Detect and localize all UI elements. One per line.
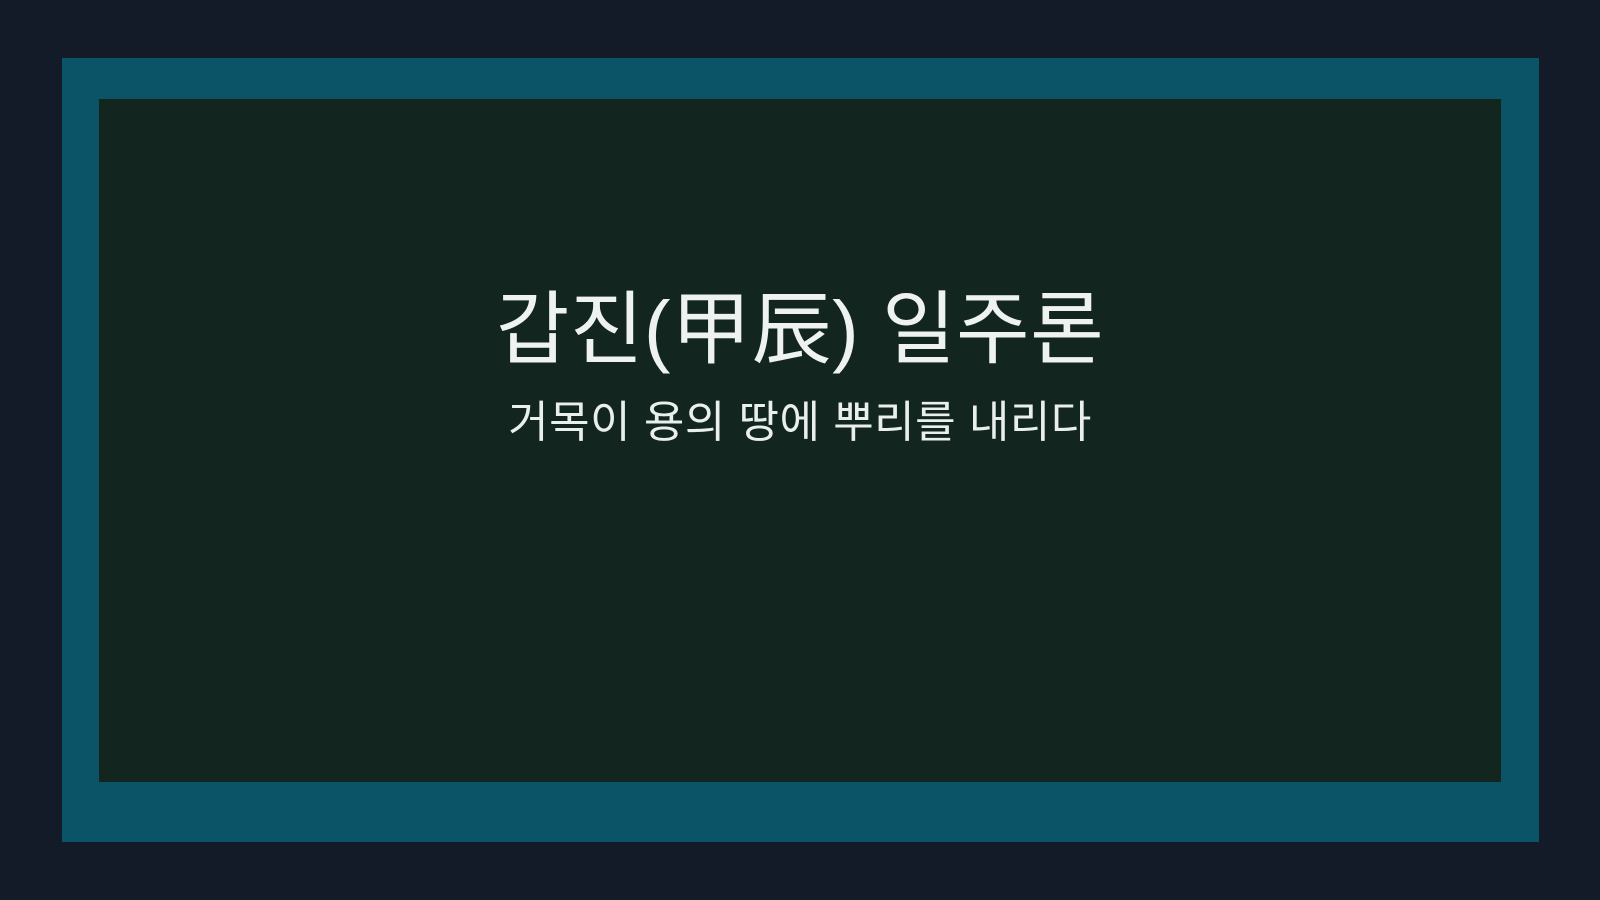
slide-title: 갑진(甲辰) 일주론 <box>139 285 1461 375</box>
slide-inner-panel: 갑진(甲辰) 일주론 거목이 용의 땅에 뿌리를 내리다 <box>99 99 1501 782</box>
slide-canvas: 갑진(甲辰) 일주론 거목이 용의 땅에 뿌리를 내리다 <box>0 0 1600 900</box>
slide-subtitle: 거목이 용의 땅에 뿌리를 내리다 <box>139 397 1461 450</box>
title-block: 갑진(甲辰) 일주론 거목이 용의 땅에 뿌리를 내리다 <box>99 285 1501 449</box>
slide-frame-border: 갑진(甲辰) 일주론 거목이 용의 땅에 뿌리를 내리다 <box>62 58 1539 842</box>
